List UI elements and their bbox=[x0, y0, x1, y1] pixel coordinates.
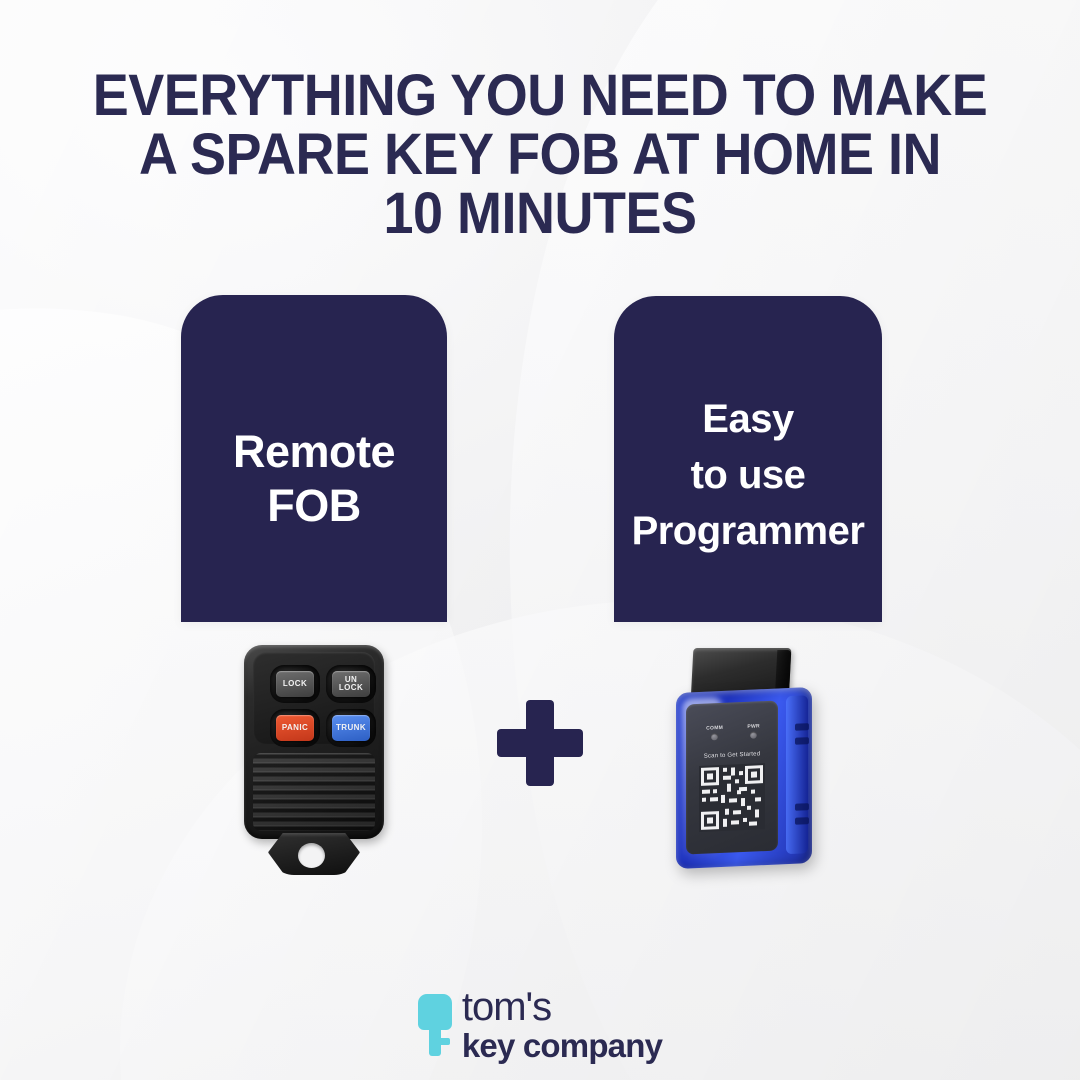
obd-notch-bottom bbox=[795, 817, 809, 825]
brand-logo-wordmark: tom's key company bbox=[462, 987, 662, 1062]
headline-line-2: A SPARE KEY FOB AT HOME IN bbox=[38, 125, 1042, 184]
brand-logo: tom's key company bbox=[0, 987, 1080, 1062]
key-fob-body: LOCK UN LOCK PANIC bbox=[244, 645, 384, 839]
obd-led-pwr-indicator bbox=[750, 731, 757, 738]
key-fob-image: LOCK UN LOCK PANIC bbox=[241, 645, 389, 877]
key-fob-grip-ribs bbox=[253, 753, 375, 831]
fob-button-lock-label: LOCK bbox=[283, 680, 307, 689]
card-remote-fob-text: Remote FOB bbox=[233, 425, 395, 533]
fob-button-trunk-cap: TRUNK bbox=[332, 715, 370, 741]
card-remote-fob: Remote FOB bbox=[181, 295, 447, 622]
fob-button-unlock-label: UN LOCK bbox=[339, 676, 363, 693]
obd-notch-upper bbox=[795, 737, 809, 745]
obd-led-comm-label: COMM bbox=[706, 725, 723, 732]
fob-button-unlock-line-2: LOCK bbox=[339, 683, 363, 692]
qr-code-icon bbox=[699, 763, 765, 832]
card-left-line-2: FOB bbox=[233, 479, 395, 533]
obd-notch-top bbox=[795, 723, 809, 731]
obd-side-panel bbox=[786, 695, 808, 854]
fob-button-panic-label: PANIC bbox=[282, 724, 308, 733]
obd-body: COMM PWR Scan to Get Started bbox=[676, 687, 812, 869]
fob-button-trunk: TRUNK bbox=[326, 709, 376, 747]
key-icon bbox=[418, 994, 452, 1056]
brand-name-key-company: key company bbox=[462, 1029, 662, 1062]
obd-notch-lower bbox=[795, 803, 809, 811]
obd-front-label: COMM PWR Scan to Get Started bbox=[686, 701, 778, 855]
card-programmer: Easy to use Programmer bbox=[614, 296, 882, 622]
brand-name-toms: tom's bbox=[462, 987, 662, 1027]
fob-button-unlock-cap: UN LOCK bbox=[332, 671, 370, 697]
fob-button-panic-cap: PANIC bbox=[276, 715, 314, 741]
key-icon-stem bbox=[429, 1026, 441, 1056]
obd-led-row: COMM PWR bbox=[694, 723, 772, 741]
card-right-line-3: Programmer bbox=[632, 503, 865, 559]
obd-led-comm-indicator bbox=[711, 733, 718, 740]
key-icon-head bbox=[418, 994, 452, 1030]
fob-button-panic: PANIC bbox=[270, 709, 320, 747]
fob-button-trunk-label: TRUNK bbox=[336, 724, 366, 733]
fob-button-lock-cap: LOCK bbox=[276, 671, 314, 697]
page-title: EVERYTHING YOU NEED TO MAKE A SPARE KEY … bbox=[38, 66, 1042, 243]
key-fob-keyring-hole bbox=[298, 843, 325, 868]
key-fob-button-panel: LOCK UN LOCK PANIC bbox=[253, 652, 375, 744]
obd-led-pwr-label: PWR bbox=[747, 723, 760, 730]
key-icon-tooth bbox=[441, 1038, 450, 1045]
card-right-line-1: Easy bbox=[632, 391, 865, 447]
poster-canvas: EVERYTHING YOU NEED TO MAKE A SPARE KEY … bbox=[0, 0, 1080, 1080]
card-left-line-1: Remote bbox=[233, 425, 395, 479]
card-programmer-text: Easy to use Programmer bbox=[632, 391, 865, 559]
obd-programmer-image: COMM PWR Scan to Get Started bbox=[668, 648, 828, 873]
card-right-line-2: to use bbox=[632, 447, 865, 503]
plus-icon bbox=[497, 700, 583, 786]
fob-button-unlock: UN LOCK bbox=[326, 665, 376, 703]
headline-line-3: 10 MINUTES bbox=[38, 184, 1042, 243]
obd-led-comm: COMM bbox=[706, 725, 723, 741]
obd-scan-text: Scan to Get Started bbox=[686, 751, 778, 761]
obd-led-pwr: PWR bbox=[747, 723, 760, 739]
fob-button-lock: LOCK bbox=[270, 665, 320, 703]
headline-line-1: EVERYTHING YOU NEED TO MAKE bbox=[38, 66, 1042, 125]
